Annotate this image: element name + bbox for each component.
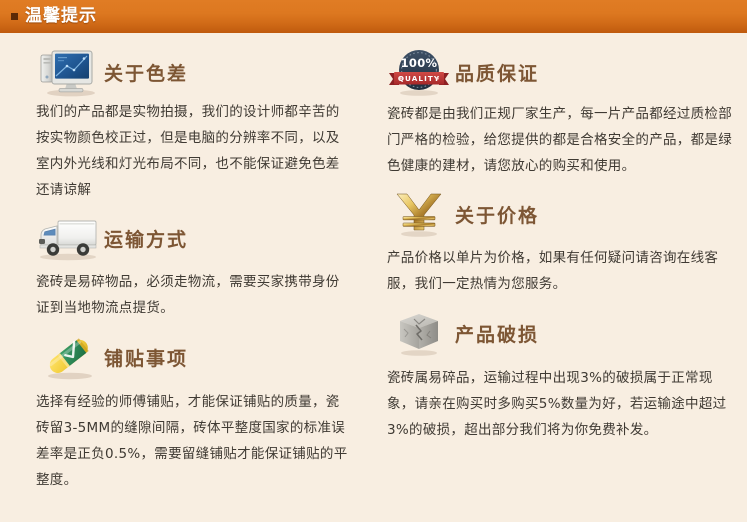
tips-panel: 温馨提示 xyxy=(0,0,747,522)
section-body: 选择有经验的师傅铺贴，才能保证铺贴的质量，瓷砖留3-5MM的缝隙间隔，砖体平整度… xyxy=(34,389,355,493)
section-color-difference: 关于色差 我们的产品都是实物拍摄，我们的设计师都辛苦的按实物颜色校正过，但是电脑… xyxy=(34,43,355,203)
section-about-price: 关于价格 产品价格以单片为价格，如果有任何疑问请咨询在线客服，我们一定热情为您服… xyxy=(385,183,738,297)
section-body: 瓷砖都是由我们正规厂家生产，每一片产品都经过质检部门严格的检验，给您提供的都是合… xyxy=(385,101,738,179)
section-product-damage: 产品破损 瓷砖属易碎品，运输过程中出现3%的破损属于正常现象，请亲在购买时多购买… xyxy=(385,301,738,443)
section-title: 关于价格 xyxy=(455,201,539,228)
section-body: 瓷砖是易碎物品，必须走物流，需要买家携带身份证到当地物流点提货。 xyxy=(34,269,355,321)
section-title: 品质保证 xyxy=(455,59,539,86)
section-body: 我们的产品都是实物拍摄，我们的设计师都辛苦的按实物颜色校正过，但是电脑的分辨率不… xyxy=(34,99,355,203)
section-title: 运输方式 xyxy=(104,225,188,252)
tips-content: 关于色差 我们的产品都是实物拍摄，我们的设计师都辛苦的按实物颜色校正过，但是电脑… xyxy=(0,33,747,497)
badge-ribbon-text: QUALITY xyxy=(398,74,440,83)
page-title: 温馨提示 xyxy=(25,8,97,25)
square-bullet-icon xyxy=(11,13,18,20)
badge-percent-text: 100% xyxy=(401,56,438,70)
left-column: 关于色差 我们的产品都是实物拍摄，我们的设计师都辛苦的按实物颜色校正过，但是电脑… xyxy=(0,43,373,497)
delivery-truck-icon xyxy=(34,214,102,262)
section-title: 铺贴事项 xyxy=(104,344,188,371)
section-installation-notes: 铺贴事项 选择有经验的师傅铺贴，才能保证铺贴的质量，瓷砖留3-5MM的缝隙间隔，… xyxy=(34,325,355,493)
section-shipping-method: 运输方式 瓷砖是易碎物品，必须走物流，需要买家携带身份证到当地物流点提货。 xyxy=(34,207,355,321)
quality-badge-icon: 100% QUALITY xyxy=(385,46,453,98)
pencil-icon xyxy=(34,331,102,383)
section-header: 铺贴事项 xyxy=(34,325,355,389)
section-title: 关于色差 xyxy=(104,59,188,86)
section-header: 关于价格 xyxy=(385,183,738,245)
broken-box-icon xyxy=(385,307,453,359)
section-header: 产品破损 xyxy=(385,301,738,365)
panel-header: 温馨提示 xyxy=(0,0,747,33)
section-body: 产品价格以单片为价格，如果有任何疑问请咨询在线客服，我们一定热情为您服务。 xyxy=(385,245,738,297)
section-quality-guarantee: 100% QUALITY 品质保证 瓷砖都是由我们正规厂家生产，每一片产品都经过… xyxy=(385,43,738,179)
section-header: 关于色差 xyxy=(34,43,355,101)
section-body: 瓷砖属易碎品，运输过程中出现3%的破损属于正常现象，请亲在购买时多购买5%数量为… xyxy=(385,365,738,443)
yuan-currency-icon xyxy=(385,188,453,240)
right-column: 100% QUALITY 品质保证 瓷砖都是由我们正规厂家生产，每一片产品都经过… xyxy=(373,43,746,497)
section-header: 100% QUALITY 品质保证 xyxy=(385,43,738,101)
monitor-icon xyxy=(34,47,102,97)
section-title: 产品破损 xyxy=(455,320,539,347)
section-header: 运输方式 xyxy=(34,207,355,269)
